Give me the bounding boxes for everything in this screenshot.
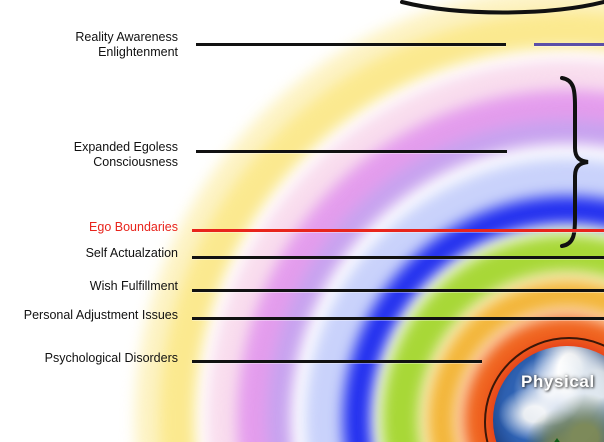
label-text-line1: Self Actualzation: [0, 246, 178, 261]
label-ego-boundaries: Ego Boundaries: [0, 220, 178, 235]
label-psychological-disorders: Psychological Disorders: [0, 351, 178, 366]
earth-label: Physical: [521, 372, 595, 392]
label-text-line2: Consciousness: [0, 155, 178, 170]
leader-line-ego-boundaries: [192, 229, 604, 232]
leader-line-expanded-egoless: [196, 150, 507, 153]
label-wish-fulfillment: Wish Fulfillment: [0, 279, 178, 294]
right-curly-brace: [528, 72, 598, 252]
leader-line-self-actualization: [192, 256, 604, 259]
leader-line-top-right-segment: [534, 43, 604, 46]
label-text-line1: Personal Adjustment Issues: [0, 308, 178, 323]
leader-line-reality-awareness: [196, 43, 506, 46]
label-personal-adjustment: Personal Adjustment Issues: [0, 308, 178, 323]
label-expanded-egoless: Expanded EgolessConsciousness: [0, 140, 178, 170]
leader-line-wish-fulfillment: [192, 289, 604, 292]
label-text-line1: Psychological Disorders: [0, 351, 178, 366]
green-triangle-marker: [525, 438, 589, 442]
label-text-line1: Ego Boundaries: [0, 220, 178, 235]
label-self-actualization: Self Actualzation: [0, 246, 178, 261]
aura-diagram: Physical Reality AwarenessEnlightenmentE…: [0, 0, 604, 442]
top-arc-brace: [398, 0, 604, 22]
label-text-line1: Wish Fulfillment: [0, 279, 178, 294]
leader-line-personal-adjustment: [192, 317, 604, 320]
label-text-line1: Expanded Egoless: [0, 140, 178, 155]
label-text-line2: Enlightenment: [0, 45, 178, 60]
leader-line-psychological-disorders: [192, 360, 482, 363]
label-reality-awareness: Reality AwarenessEnlightenment: [0, 30, 178, 60]
label-text-line1: Reality Awareness: [0, 30, 178, 45]
